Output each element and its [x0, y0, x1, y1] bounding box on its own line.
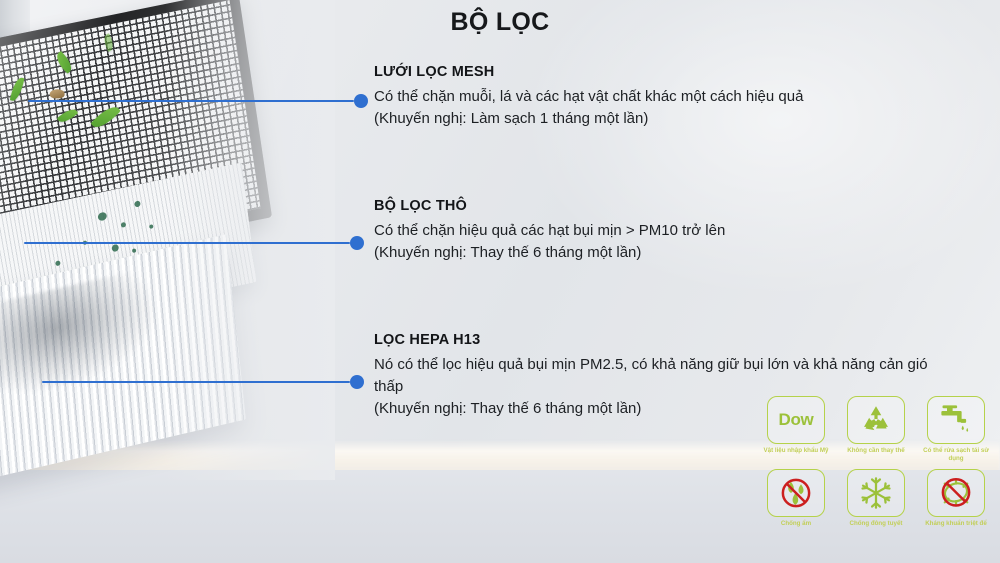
connector-dot: [350, 375, 364, 389]
connector-line: [42, 381, 350, 383]
badge-no-replacement: Không cần thay thế: [842, 396, 910, 463]
layer-note: (Khuyến nghị: Làm sạch 1 tháng một lần): [374, 108, 974, 130]
badge-caption: Không cần thay thế: [842, 447, 910, 455]
connector-dot: [354, 94, 368, 108]
connector-dot: [350, 236, 364, 250]
layer-heading: LỌC HEPA H13: [374, 332, 974, 348]
badge-antibacterial: Kháng khuẩn triệt để: [922, 469, 990, 528]
connector-hepa: [42, 375, 368, 389]
layer-description: Có thể chặn hiệu quả các hạt bụi mịn > P…: [374, 220, 974, 242]
connector-line: [28, 100, 354, 102]
filter-diagram-slide: BỘ LỌC LƯỚI LỌC MESH Có thể chặn muỗi, l…: [0, 0, 1000, 563]
layer-note: (Khuyến nghị: Thay thế 6 tháng một lần): [374, 242, 974, 264]
badge-caption: Kháng khuẩn triệt để: [922, 520, 990, 528]
connector-line: [24, 242, 350, 244]
badge-caption: Vật liệu nhập khẩu Mỹ: [762, 447, 830, 455]
layer-heading: BỘ LỌC THÔ: [374, 198, 974, 214]
badge-dow-material: Dow Vật liệu nhập khẩu Mỹ: [762, 396, 830, 463]
badge-caption: Chống ẩm: [762, 520, 830, 528]
page-title: BỘ LỌC: [0, 8, 1000, 37]
recycle-icon: [847, 396, 905, 444]
layer-info-coarse: BỘ LỌC THÔ Có thể chặn hiệu quả các hạt …: [374, 198, 974, 264]
no-moisture-icon: [767, 469, 825, 517]
badge-frost-proof: Chống đông tuyết: [842, 469, 910, 528]
dow-logo-text: Dow: [779, 410, 814, 430]
connector-mesh: [28, 94, 368, 108]
feature-badge-grid: Dow Vật liệu nhập khẩu Mỹ: [762, 396, 990, 528]
badge-moisture-proof: Chống ẩm: [762, 469, 830, 528]
faucet-water-icon: [927, 396, 985, 444]
badge-washable-reusable: Có thể rửa sạch tái sử dụng: [922, 396, 990, 463]
snowflake-icon: [847, 469, 905, 517]
layer-info-mesh: LƯỚI LỌC MESH Có thể chặn muỗi, lá và cá…: [374, 64, 974, 130]
layer-description: Nó có thể lọc hiệu quả bụi mịn PM2.5, có…: [374, 354, 934, 398]
badge-caption: Chống đông tuyết: [842, 520, 910, 528]
dow-logo-icon: Dow: [767, 396, 825, 444]
no-bacteria-icon: [927, 469, 985, 517]
badge-caption: Có thể rửa sạch tái sử dụng: [922, 447, 990, 463]
layer-heading: LƯỚI LỌC MESH: [374, 64, 974, 80]
layer-description: Có thể chặn muỗi, lá và các hạt vật chất…: [374, 86, 974, 108]
connector-coarse: [24, 236, 368, 250]
